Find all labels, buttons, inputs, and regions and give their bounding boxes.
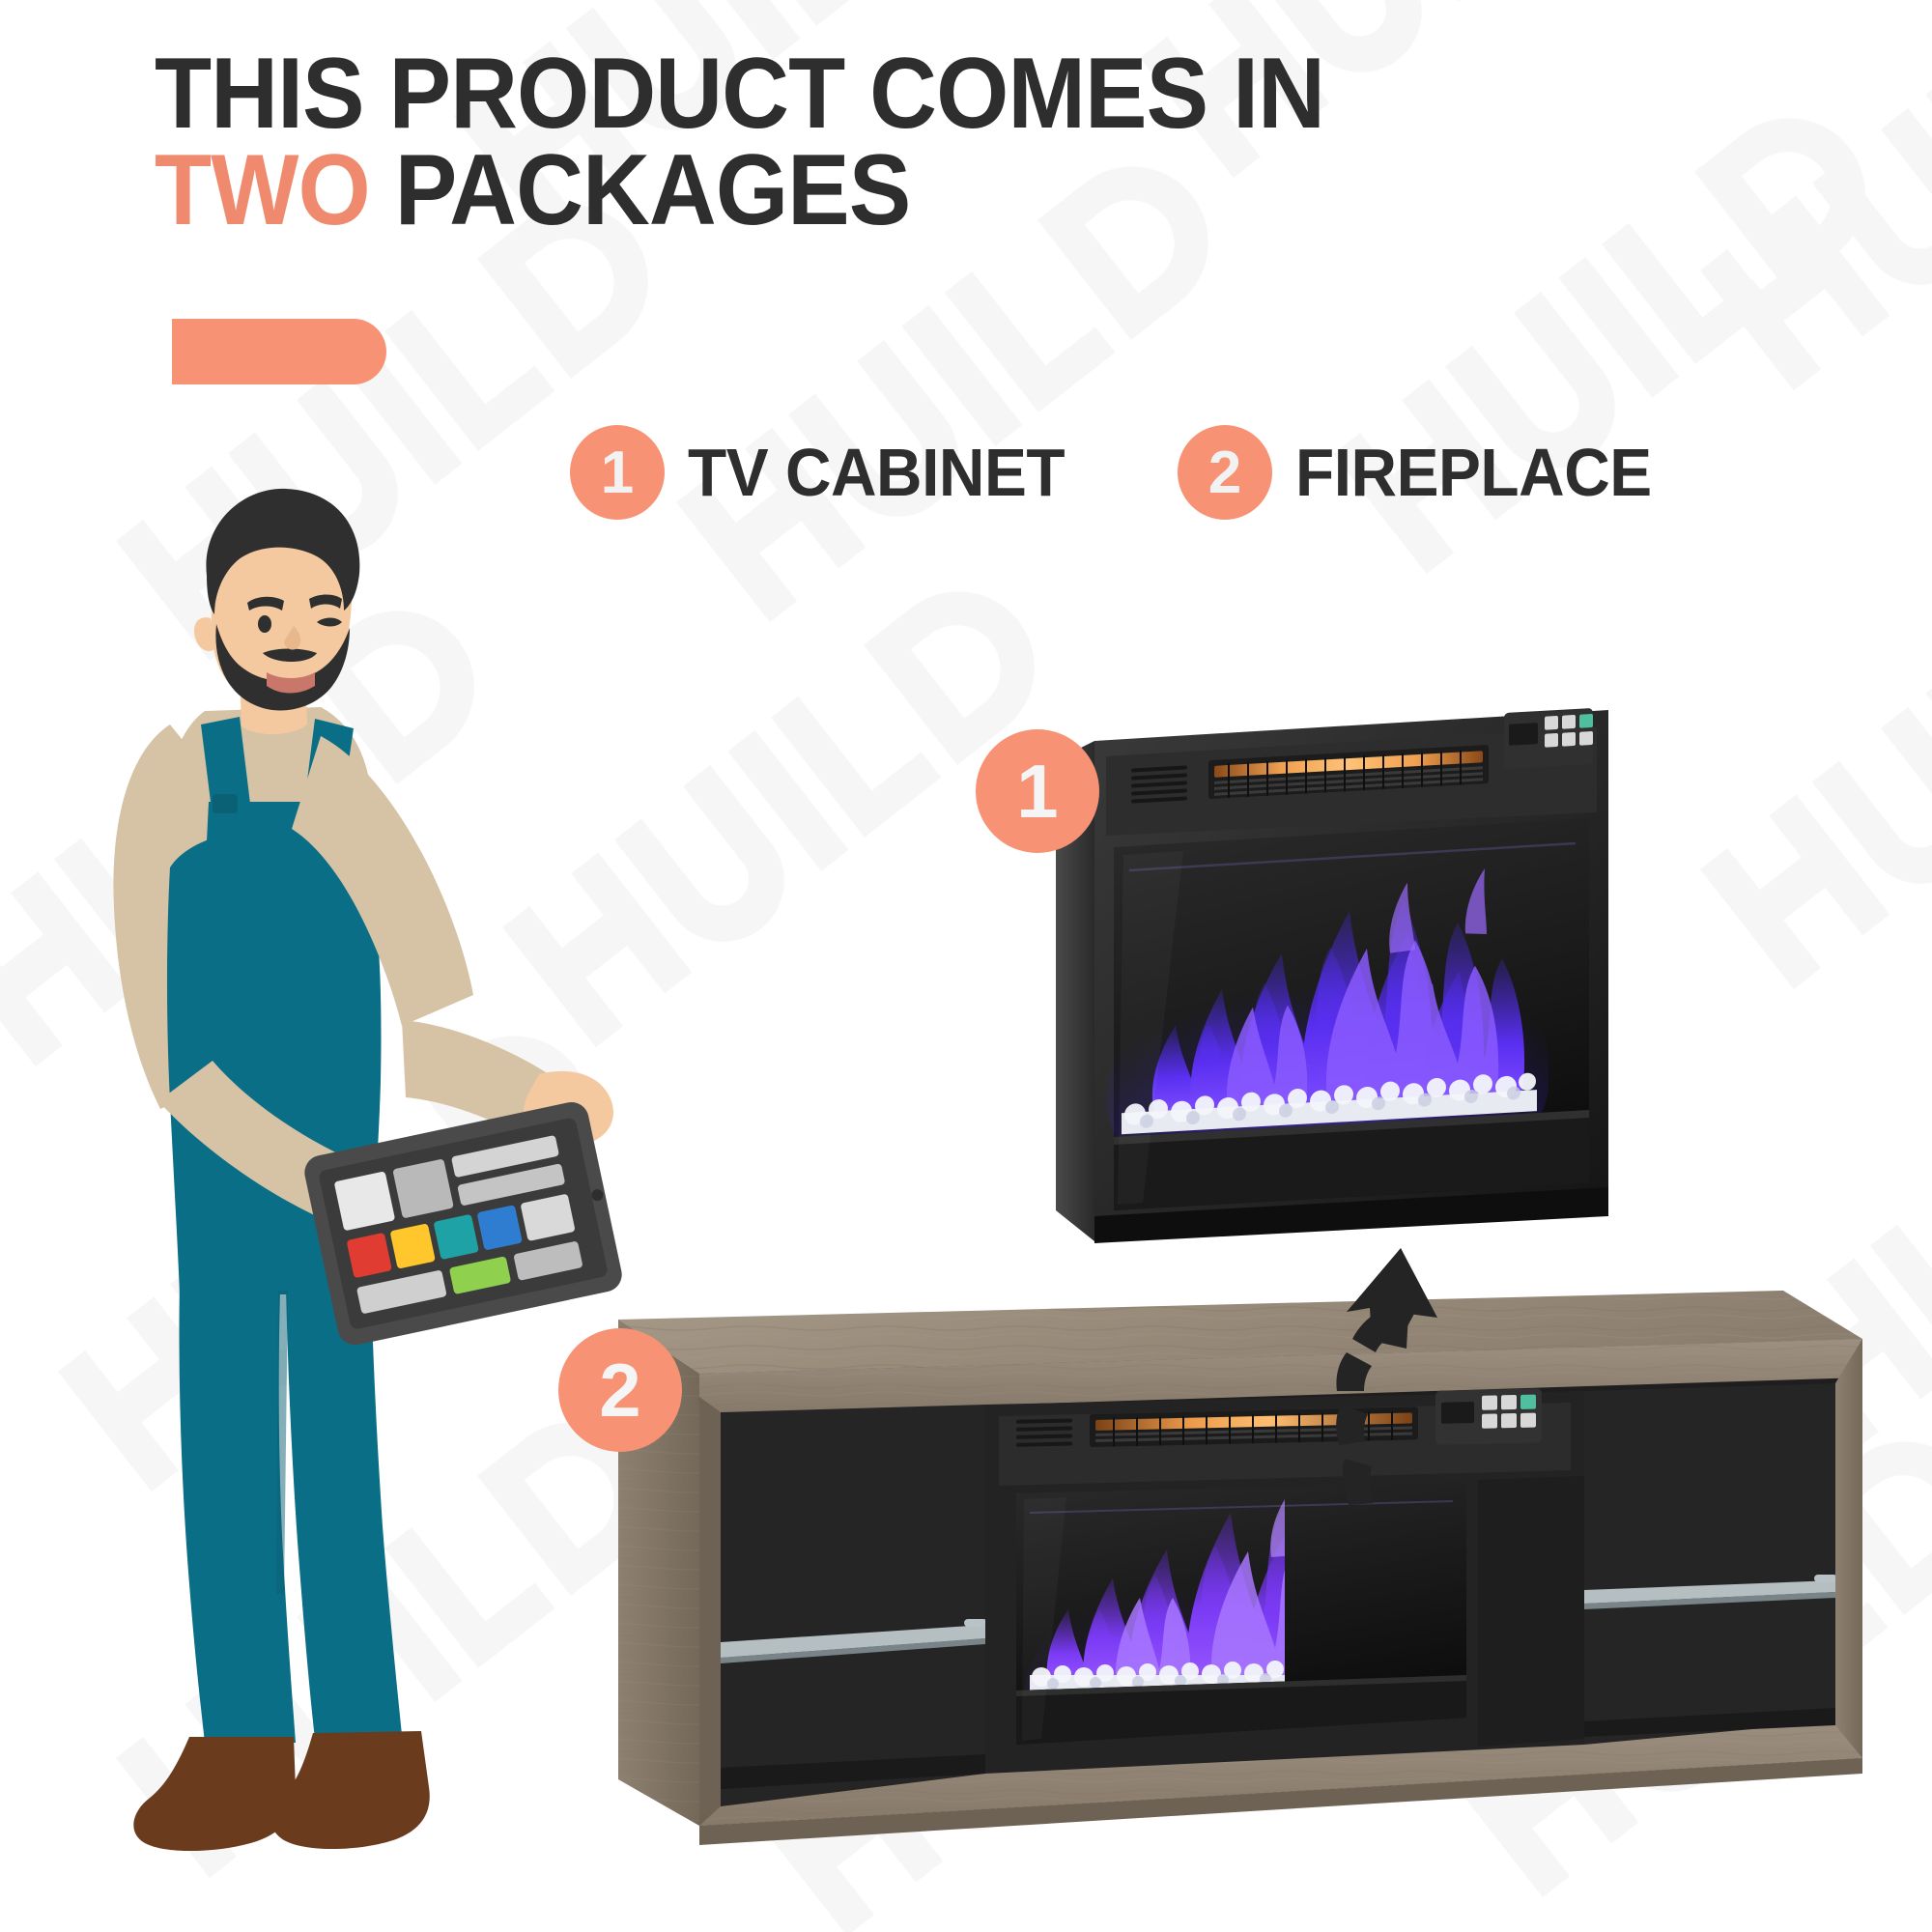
cabinet-control-panel — [1435, 1388, 1542, 1444]
page-title: THIS PRODUCT COMES IN TWO PACKAGES — [155, 46, 1412, 240]
callout-badge-1: 1 — [976, 729, 1099, 853]
accent-underline-bar — [172, 319, 386, 384]
fireplace-insert-product — [1038, 700, 1642, 1304]
legend-item-fireplace: 2 FIREPLACE — [1178, 425, 1674, 520]
infographic-canvas: THIS PRODUCT COMES IN TWO PACKAGES 1 TV … — [0, 0, 1932, 1932]
title-accent-word: TWO — [155, 134, 370, 246]
title-line-1: THIS PRODUCT COMES IN — [155, 46, 1324, 143]
tv-cabinet-product — [580, 1285, 1864, 1874]
control-panel — [1504, 708, 1593, 769]
title-line-2: TWO PACKAGES — [155, 143, 1324, 240]
title-line-2-rest: PACKAGES — [370, 134, 910, 246]
legend-label-fireplace: FIREPLACE — [1295, 434, 1652, 511]
legend-label-tv-cabinet: TV CABINET — [688, 434, 1065, 511]
legend-row: 1 TV CABINET 2 FIREPLACE — [570, 425, 1674, 520]
callout-badge-2: 2 — [558, 1328, 682, 1452]
legend-badge-2: 2 — [1178, 425, 1272, 520]
assembly-arrow-icon — [1256, 1246, 1430, 1507]
